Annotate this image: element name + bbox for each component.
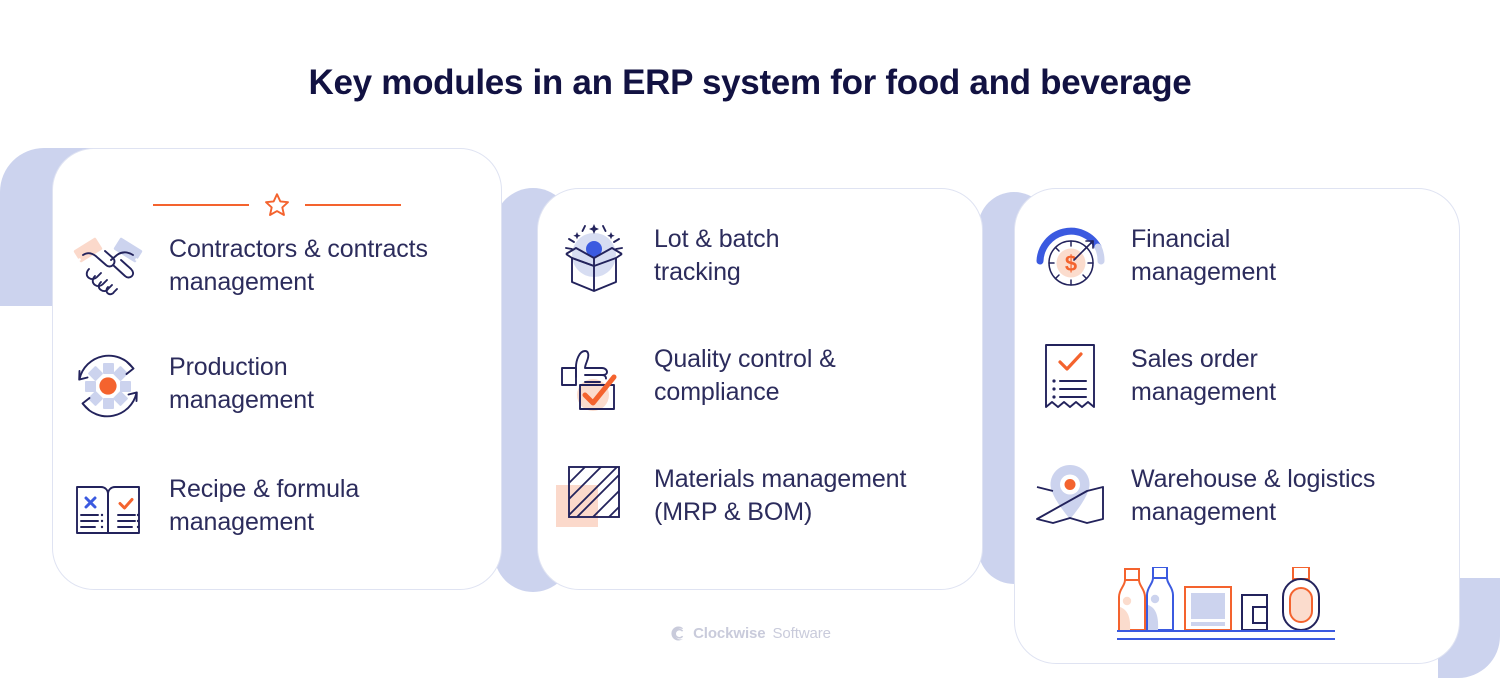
module-item-label: Production management — [169, 345, 314, 418]
module-item-label: Quality control & compliance — [654, 337, 836, 410]
infographic-canvas: Key modules in an ERP system for food an… — [0, 0, 1500, 678]
footer-suffix: Software — [773, 625, 831, 642]
svg-text:$: $ — [1065, 251, 1077, 276]
module-item-label: Sales order management — [1131, 337, 1276, 410]
module-item-label: Contractors & contracts management — [169, 227, 428, 300]
module-card-2: Lot & batch tracking Quality control & c… — [537, 188, 983, 590]
dollar-gauge-icon: $ — [1029, 217, 1111, 299]
module-card-3: $ Financial management Sales order manag… — [1014, 188, 1460, 664]
module-item-warehouse[interactable]: Warehouse & logistics management — [1029, 457, 1375, 539]
module-item-financial[interactable]: $ Financial management — [1029, 217, 1276, 299]
hatched-square-icon — [552, 457, 634, 539]
module-item-sales-order[interactable]: Sales order management — [1029, 337, 1276, 419]
receipt-check-icon — [1029, 337, 1111, 419]
module-item-production[interactable]: Production management — [67, 345, 314, 427]
module-item-label: Recipe & formula management — [169, 467, 359, 540]
module-card-1: Contractors & contracts management — [52, 148, 502, 590]
handshake-icon — [67, 227, 149, 309]
page-title: Key modules in an ERP system for food an… — [0, 63, 1500, 103]
star-outline-icon — [263, 191, 291, 219]
divider-rule-right — [305, 204, 401, 206]
module-item-contractors[interactable]: Contractors & contracts management — [67, 227, 428, 309]
map-pin-icon — [1029, 457, 1111, 539]
module-item-lot-batch[interactable]: Lot & batch tracking — [552, 217, 779, 299]
thumbs-up-checklist-icon — [552, 337, 634, 419]
module-item-label: Warehouse & logistics management — [1131, 457, 1375, 530]
open-book-icon — [67, 467, 149, 549]
open-box-icon — [552, 217, 634, 299]
clockwise-swirl-icon — [669, 625, 686, 642]
footer-brand: Clockwise — [693, 625, 765, 642]
footer-logo: Clockwise Software — [0, 625, 1500, 642]
module-item-label: Materials management (MRP & BOM) — [654, 457, 906, 530]
star-divider — [53, 191, 501, 219]
module-item-materials[interactable]: Materials management (MRP & BOM) — [552, 457, 906, 539]
module-item-quality[interactable]: Quality control & compliance — [552, 337, 836, 419]
module-item-recipe[interactable]: Recipe & formula management — [67, 467, 359, 549]
production-cycle-icon — [67, 345, 149, 427]
divider-rule-left — [153, 204, 249, 206]
module-item-label: Lot & batch tracking — [654, 217, 779, 290]
module-item-label: Financial management — [1131, 217, 1276, 290]
